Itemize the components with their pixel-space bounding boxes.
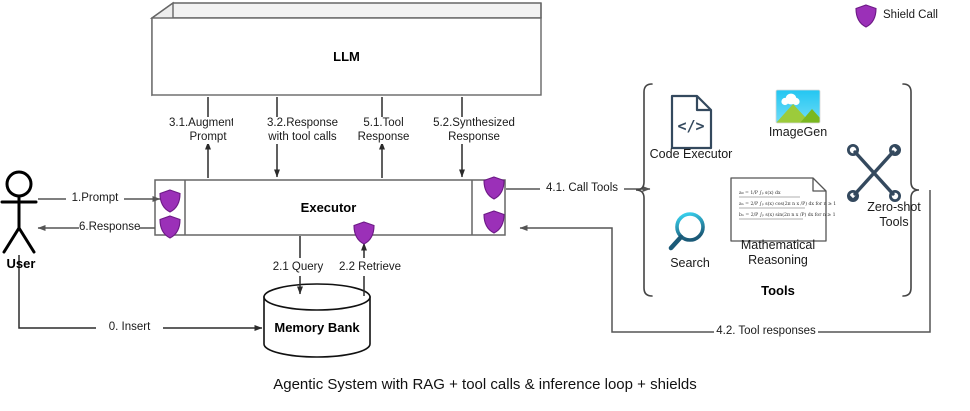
image-picture-icon[interactable] (776, 90, 820, 123)
svg-text:bₙ = 2/P ∫ₚ s(x) sin(2π n x /P: bₙ = 2/P ∫ₚ s(x) sin(2π n x /P) dx for n… (739, 211, 836, 218)
edge-label-5-1-tool-response: 5.1.Tool Response (341, 117, 426, 144)
edge-label-2-2-retrieve: 2.2 Retrieve (333, 261, 407, 275)
shield-legend-icon (856, 5, 876, 27)
magnifier-icon[interactable] (671, 214, 703, 248)
svg-text:aₙ = 2/P ∫ₚ s(x) cos(2π n x /P: aₙ = 2/P ∫ₚ s(x) cos(2π n x /P) dx for n… (739, 200, 836, 207)
edge-label-4-2-tool-responses: 4.2. Tool responses (716, 325, 816, 339)
edge-label-1-prompt: 1.Prompt (66, 192, 124, 206)
tools-group-brace-left (636, 84, 652, 296)
tool-label-search: Search (655, 256, 725, 271)
code-document-icon[interactable]: </> (672, 96, 711, 148)
user-label: User (0, 256, 42, 271)
legend-shield-label: Shield Call (883, 9, 938, 21)
tool-label-code-executor: Code Executor (646, 147, 736, 162)
tool-label-mathematical-reasoning: Mathematical Reasoning (723, 238, 833, 268)
user-stick-figure[interactable] (2, 172, 36, 252)
diagram-caption: Agentic System with RAG + tool calls & i… (0, 376, 970, 393)
llm-label: LLM (152, 49, 541, 64)
shield-exec-memory (354, 222, 374, 244)
svg-text:a₀ = 1/P ∫ₚ s(x) dx: a₀ = 1/P ∫ₚ s(x) dx (739, 189, 781, 196)
crossed-wrenches-icon[interactable] (848, 145, 899, 200)
tool-label-zero-shot-tools: Zero-shot Tools (834, 200, 954, 230)
edge-label-5-2-synthesized-response: 5.2.Synthesized Response (420, 117, 528, 144)
memory-bank-label: Memory Bank (264, 320, 370, 335)
edge-4-2-tool-responses-b (520, 228, 714, 332)
edge-label-0-insert: 0. Insert (98, 321, 161, 335)
diagram-canvas: </> a₀ = 1/P ∫ₚ s(x) dx (0, 0, 970, 411)
edge-label-2-1-query: 2.1 Query (266, 261, 330, 275)
edge-label-4-1-call-tools: 4.1. Call Tools (542, 182, 622, 196)
math-document-icon[interactable]: a₀ = 1/P ∫ₚ s(x) dx aₙ = 2/P ∫ₚ s(x) cos… (731, 178, 836, 241)
edge-label-6-response: 6.Response (79, 221, 139, 235)
svg-text:</>: </> (677, 117, 704, 135)
tool-label-imagegen: ImageGen (753, 125, 843, 140)
executor-label: Executor (185, 200, 472, 215)
tools-group-label: Tools (718, 283, 838, 298)
tools-group-brace-right (903, 84, 919, 296)
